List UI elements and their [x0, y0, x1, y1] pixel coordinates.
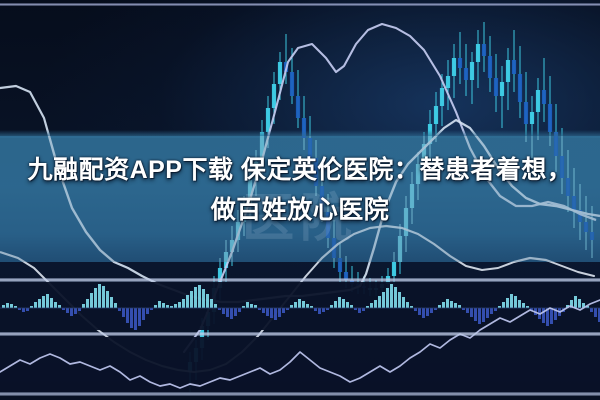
- separator-bottom: [0, 392, 600, 396]
- stock-chart-banner: 医院 九融配资APP下载 保定英伦医院：替患者着想， 做百姓放心医院: [0, 0, 600, 400]
- separator-macd-top: [0, 278, 600, 282]
- indicator-panels-layer: [0, 0, 600, 400]
- separator-macd-bottom: [0, 332, 600, 336]
- trend-panel-bg: [0, 337, 600, 392]
- separator-top: [0, 3, 600, 6]
